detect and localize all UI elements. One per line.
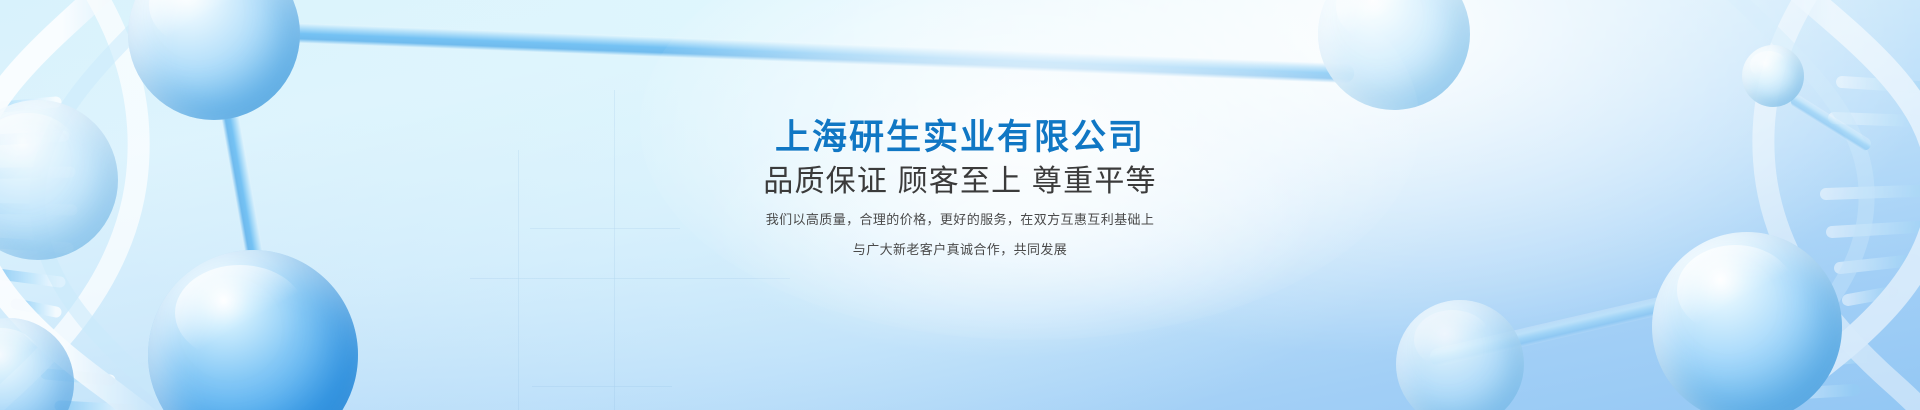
banner-copy-block: 上海研生实业有限公司 品质保证 顾客至上 尊重平等 我们以高质量，合理的价格，更…: [0, 116, 1920, 262]
molecule-atom-sphere: [1318, 0, 1470, 110]
molecule-bond: [1428, 294, 1676, 368]
molecule-atom-sphere: [128, 0, 300, 120]
molecule-atom-sphere: [148, 250, 358, 410]
company-description-line-2: 与广大新老客户真诚合作，共同发展: [0, 238, 1920, 262]
company-hero-banner: 上海研生实业有限公司 品质保证 顾客至上 尊重平等 我们以高质量，合理的价格，更…: [0, 0, 1920, 410]
molecule-atom-sphere: [1742, 45, 1804, 107]
company-description-line-1: 我们以高质量，合理的价格，更好的服务，在双方互惠互利基础上: [0, 208, 1920, 232]
company-title: 上海研生实业有限公司: [0, 116, 1920, 160]
molecule-atom-sphere: [1396, 300, 1524, 410]
molecule-atom-sphere: [0, 318, 74, 410]
molecule-bond: [270, 22, 1355, 84]
company-slogan: 品质保证 顾客至上 尊重平等: [0, 162, 1920, 202]
molecule-bond: [1730, 406, 1779, 410]
